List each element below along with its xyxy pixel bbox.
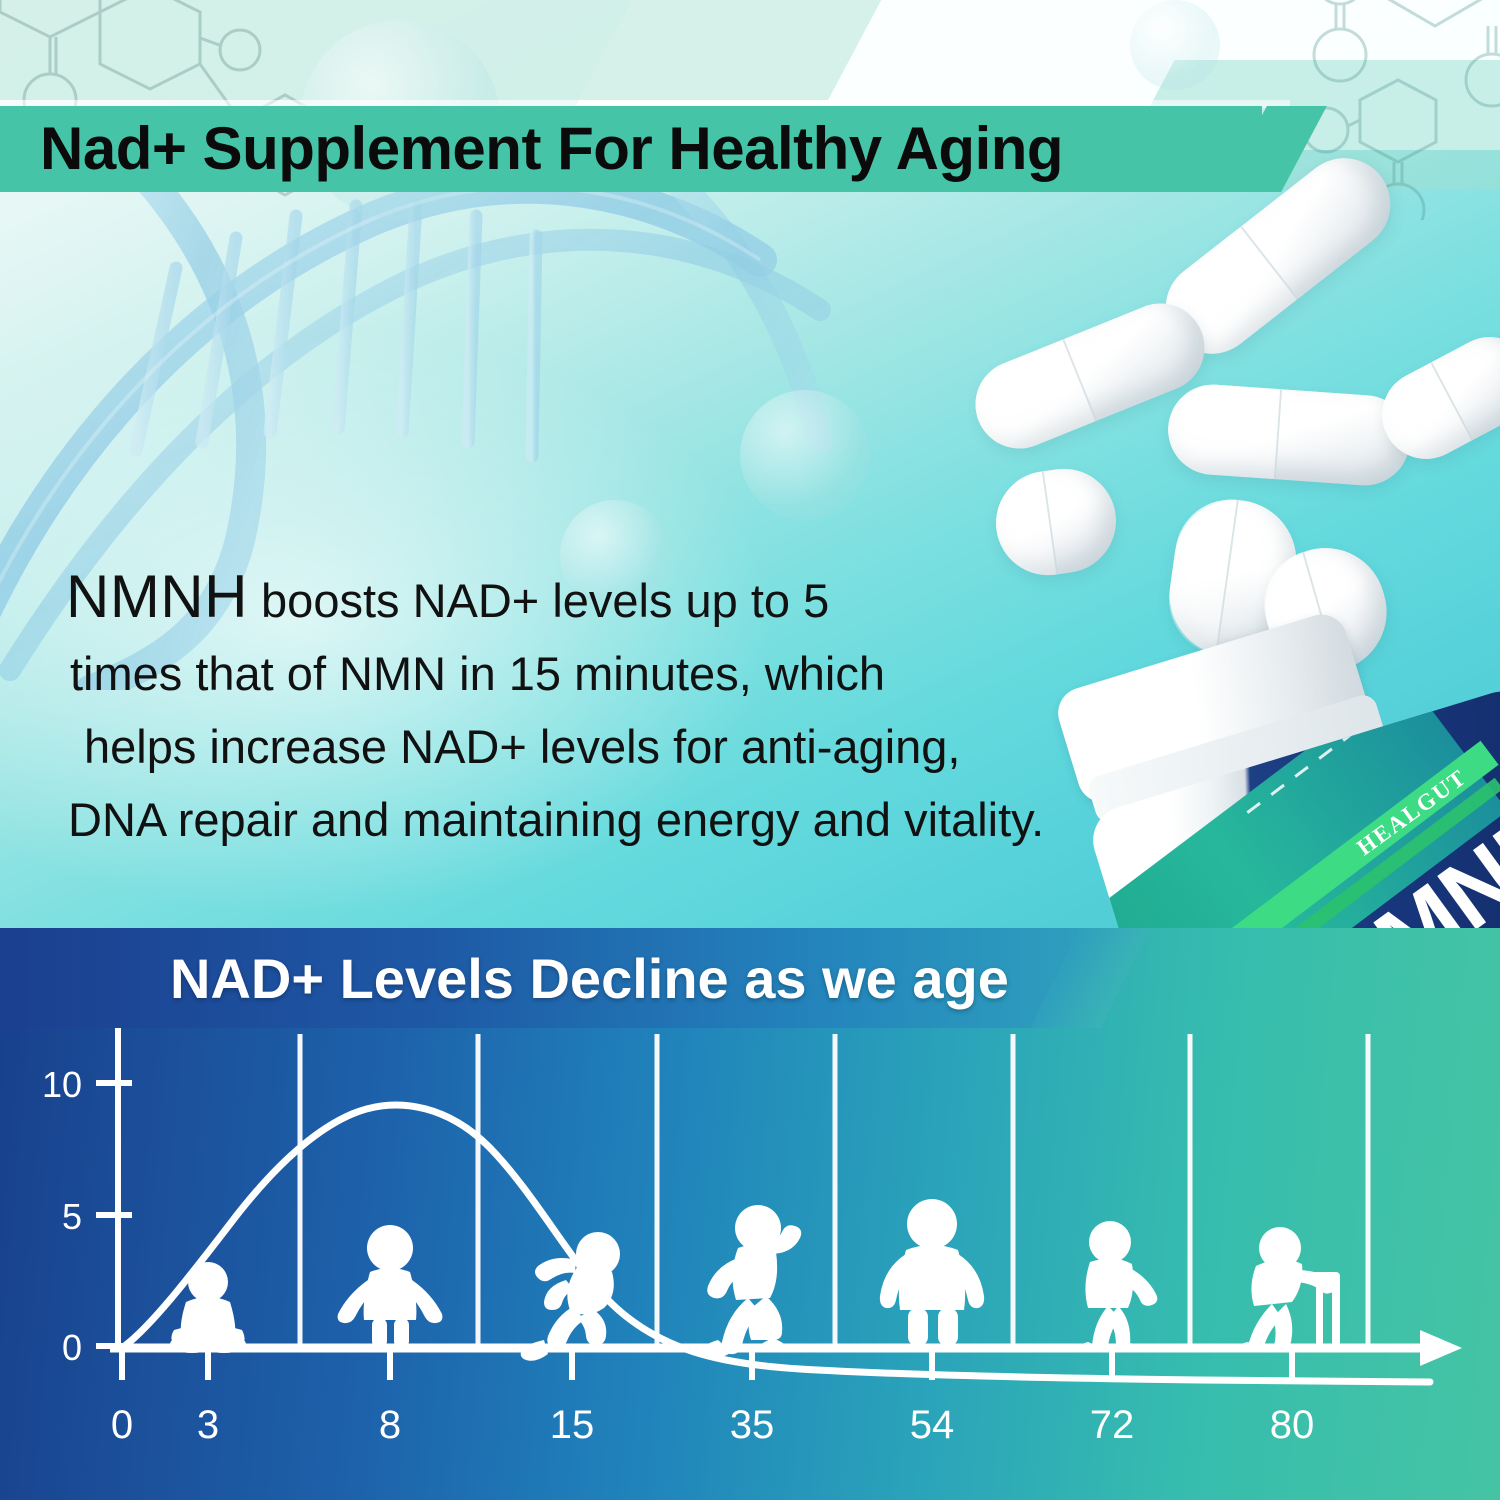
capsule-icon — [1165, 382, 1413, 489]
figure-running-adult — [702, 1205, 802, 1358]
chart-gridlines — [300, 1034, 1368, 1346]
paragraph-line-2: times that of NMN in 15 minutes, which — [66, 637, 1106, 710]
y-tick-label: 10 — [42, 1064, 82, 1105]
chart-title: NAD+ Levels Decline as we age — [170, 946, 1009, 1011]
figure-sitting-baby — [170, 1262, 246, 1353]
bubble-decor — [740, 390, 870, 520]
figure-standing-adult — [880, 1199, 984, 1346]
nad-decline-chart: 10 5 0 — [0, 1028, 1500, 1500]
paragraph-line-4: DNA repair and maintaining energy and vi… — [66, 783, 1106, 856]
page-title: Nad+ Supplement For Healthy Aging — [40, 112, 1240, 186]
lead-word: NMNH — [66, 563, 248, 630]
x-tick-label: 35 — [730, 1403, 775, 1447]
figure-standing-child — [338, 1225, 443, 1348]
y-tick-label: 5 — [62, 1196, 82, 1237]
description-paragraph: NMNH boosts NAD+ levels up to 5 times th… — [66, 560, 1106, 856]
y-tick-label: 0 — [62, 1327, 82, 1368]
x-axis-arrow — [1420, 1330, 1462, 1366]
infographic-page: HEALGUT NMNH Nad+ Supplement For Healthy… — [0, 0, 1500, 1500]
chart-section: NAD+ Levels Decline as we age — [0, 928, 1500, 1500]
bubble-decor — [1130, 0, 1220, 90]
figure-elder-with-walker — [1238, 1227, 1340, 1348]
x-tick-label: 3 — [197, 1403, 219, 1447]
x-tick-label: 0 — [111, 1403, 133, 1447]
x-tick-label: 8 — [379, 1403, 401, 1447]
figure-walking-elder — [1080, 1221, 1157, 1348]
paragraph-line-1: boosts NAD+ levels up to 5 — [248, 574, 829, 627]
x-tick-label: 72 — [1090, 1403, 1135, 1447]
y-axis-ticks — [96, 1083, 132, 1346]
x-tick-label: 80 — [1270, 1403, 1315, 1447]
x-tick-label: 54 — [910, 1403, 955, 1447]
paragraph-line-3: helps increase NAD+ levels for anti-agin… — [66, 710, 1106, 783]
hero-section: HEALGUT NMNH Nad+ Supplement For Healthy… — [0, 0, 1500, 930]
x-tick-label: 15 — [550, 1403, 595, 1447]
